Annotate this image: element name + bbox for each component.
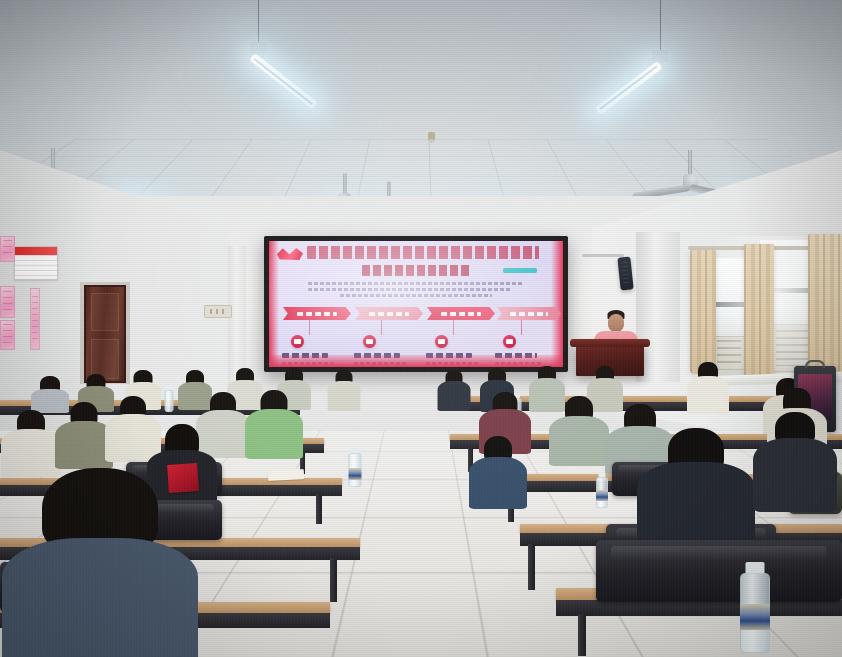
desk-leg <box>528 544 535 590</box>
presenter-head <box>608 314 624 332</box>
poster-header-band <box>15 247 57 255</box>
paper-sheet-desk <box>268 469 304 481</box>
slide-accent-right <box>551 241 563 367</box>
desk-leg <box>316 494 322 524</box>
slide-column-2-icon <box>363 335 376 348</box>
attendee-back-r1 <box>436 370 472 410</box>
attendee-mid-l3 <box>0 410 62 472</box>
attendee-torso <box>687 376 729 414</box>
slide-column-4-connector <box>521 320 522 335</box>
attendee-back-c1 <box>326 370 362 410</box>
slide-intro-paragraph <box>308 282 524 297</box>
bottle-label <box>596 490 608 501</box>
bottle-label <box>348 468 361 480</box>
curtain-left <box>690 250 716 374</box>
water-bottle-desk-far <box>164 386 173 412</box>
light-wire-right <box>660 0 661 52</box>
attendee-foreground-left <box>0 468 200 657</box>
fan-rod <box>689 150 693 176</box>
slide-bottom-accent <box>269 355 563 367</box>
slide-column-2-banner <box>355 307 423 320</box>
attendee-torso <box>549 416 609 466</box>
attendee-torso <box>469 457 527 509</box>
projector-glare <box>269 241 563 367</box>
door-panel-upper <box>91 293 119 331</box>
conference-room-photo <box>0 0 842 657</box>
projection-screen[interactable] <box>264 236 568 372</box>
wall-poster-pink-mid <box>0 286 15 318</box>
fan-rod <box>343 173 346 194</box>
attendee-torso <box>328 381 361 411</box>
slide-column-2-connector <box>381 320 382 335</box>
slide-column-1-icon <box>291 335 304 348</box>
light-mount-left <box>250 42 266 54</box>
room-door[interactable] <box>84 285 126 383</box>
podium-top-surface <box>570 339 650 347</box>
slide-subtitle-text <box>362 265 470 276</box>
attendee-row2-r1 <box>468 436 528 502</box>
slide-column-3-connector <box>453 320 454 335</box>
slide-column-1-banner <box>283 307 351 320</box>
poster-body-text <box>15 255 57 279</box>
attendee-torso <box>2 538 198 657</box>
desk-leg <box>578 614 586 656</box>
slide-ribbon-graphic <box>277 247 303 260</box>
slide-column-4-icon <box>503 335 516 348</box>
wall-sign-plate <box>204 305 232 318</box>
ceiling-track-rail <box>582 254 624 257</box>
bottle-body <box>164 390 173 412</box>
chair-back-foreground-right <box>596 540 842 602</box>
water-bottle-foreground <box>740 562 770 654</box>
light-wire-left <box>258 0 259 44</box>
slide-column-3-banner <box>427 307 495 320</box>
bottle-label <box>740 604 770 630</box>
slide-title-text <box>307 246 539 259</box>
slide-column-1-connector <box>309 320 310 335</box>
attendee-torso <box>753 438 837 512</box>
water-bottle-desk-mid <box>596 472 608 508</box>
door-panel-lower <box>91 339 119 379</box>
attendee-torso <box>245 409 303 459</box>
desk-front-panel <box>556 600 842 616</box>
slide-column-3-icon <box>435 335 448 348</box>
attendee-mid-r2 <box>548 396 610 460</box>
light-mount-right <box>652 50 668 62</box>
desk-leg <box>330 558 337 602</box>
attendee-front-r2 <box>752 412 838 508</box>
wall-poster-pink-strip <box>30 288 40 350</box>
ceiling-fan-right <box>690 150 691 194</box>
amplifier-handle <box>805 360 825 368</box>
slide-column-4-banner <box>497 307 561 320</box>
projected-slide <box>269 241 563 367</box>
slide-accent-left <box>269 241 279 367</box>
attendee-front-r1 <box>636 428 756 538</box>
attendee-torso <box>438 381 471 411</box>
attendee-back-r5 <box>686 362 730 412</box>
slide-teal-accent-bar <box>503 268 537 273</box>
water-bottle-desk-left <box>348 448 361 488</box>
attendee-mid-l2 <box>244 390 304 454</box>
wall-poster-pink-low <box>0 320 15 350</box>
wall-poster-pink-top <box>0 236 15 262</box>
curtain-right <box>808 234 842 380</box>
curtain-middle <box>744 244 774 378</box>
attendee-torso <box>637 462 755 548</box>
wall-poster-notice <box>14 246 58 280</box>
sprinkler-head-center <box>428 132 435 141</box>
